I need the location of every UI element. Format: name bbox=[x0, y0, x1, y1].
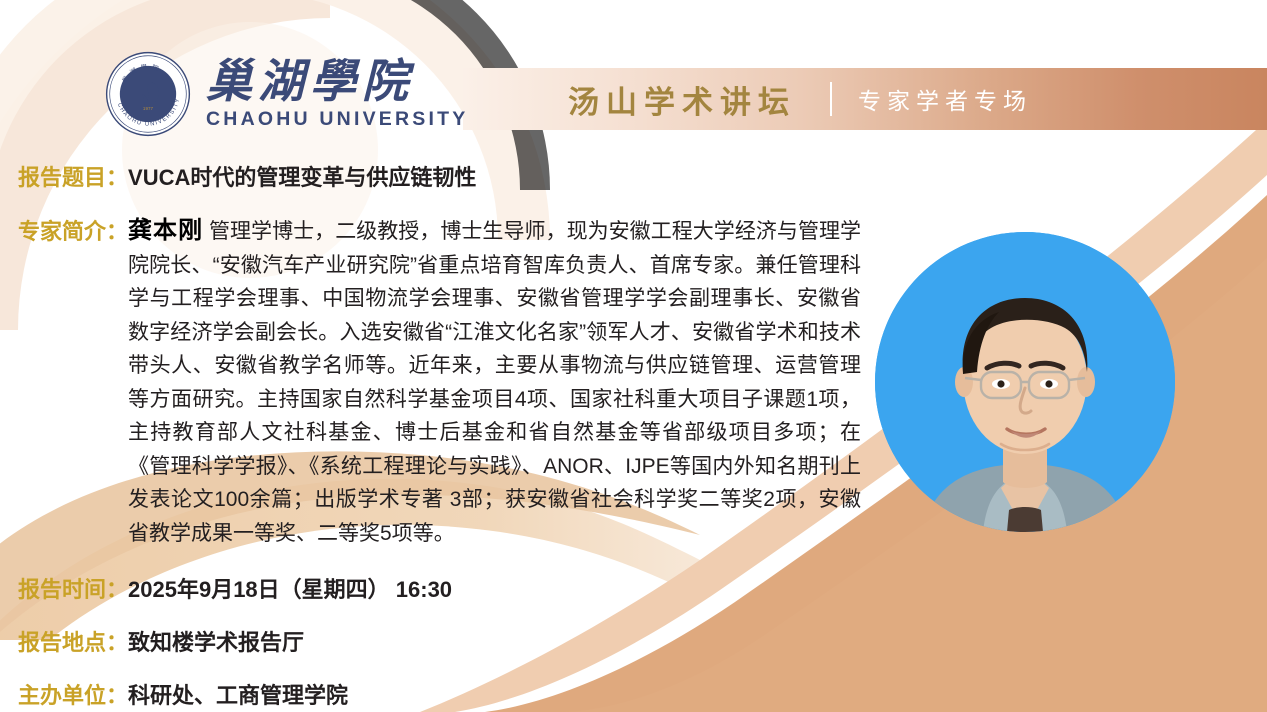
organizer-label: 主办单位： bbox=[18, 678, 128, 710]
report-title-value: VUCA时代的管理变革与供应链韧性 bbox=[128, 160, 476, 192]
speaker-portrait bbox=[875, 232, 1175, 532]
speaker-bio-row: 专家简介： 龚本刚 管理学博士，二级教授，博士生导师，现为安徽工程大学经济与管理… bbox=[18, 214, 898, 550]
report-place-value: 致知楼学术报告厅 bbox=[128, 625, 304, 657]
organizer-row: 主办单位： 科研处、工商管理学院 bbox=[18, 678, 348, 710]
report-title-label: 报告题目： bbox=[18, 160, 128, 192]
speaker-bio-label: 专家简介： bbox=[18, 214, 128, 246]
lecture-poster: 汤山学术讲坛 专家学者专场 1977 巢 湖 學 院 CHAOHU UNIVER… bbox=[0, 0, 1267, 712]
report-time-row: 报告时间： 2025年9月18日（星期四） 16:30 bbox=[18, 572, 452, 604]
speaker-bio-text: 龚本刚 管理学博士，二级教授，博士生导师，现为安徽工程大学经济与管理学院院长、“… bbox=[128, 214, 861, 550]
report-place-row: 报告地点： 致知楼学术报告厅 bbox=[18, 625, 304, 657]
speaker-bio-paragraph: 管理学博士，二级教授，博士生导师，现为安徽工程大学经济与管理学院院长、“安徽汽车… bbox=[128, 220, 861, 545]
report-place-label: 报告地点： bbox=[18, 625, 128, 657]
organizer-value: 科研处、工商管理学院 bbox=[128, 678, 348, 710]
report-time-label: 报告时间： bbox=[18, 572, 128, 604]
report-title-row: 报告题目： VUCA时代的管理变革与供应链韧性 bbox=[18, 160, 476, 192]
speaker-name: 龚本刚 bbox=[128, 217, 203, 244]
report-time-value: 2025年9月18日（星期四） 16:30 bbox=[128, 572, 452, 604]
speaker-portrait-image bbox=[875, 232, 1175, 532]
